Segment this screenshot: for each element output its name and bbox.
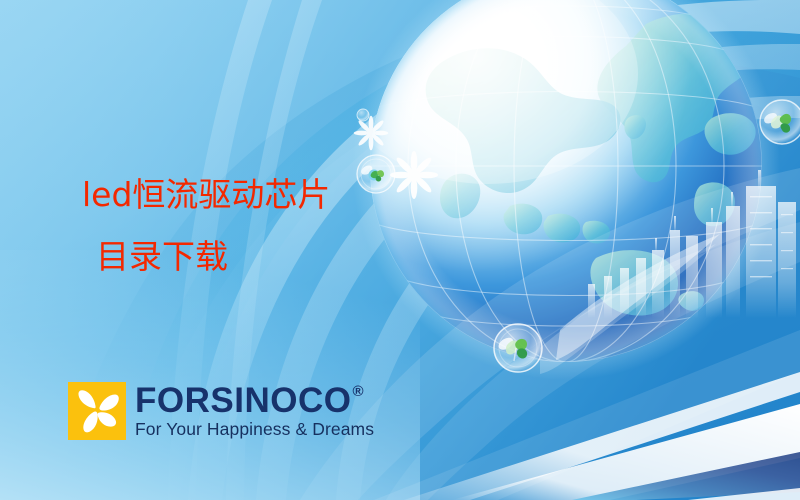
bubble-edge-right bbox=[760, 100, 800, 144]
headline-line-1: led恒流驱动芯片 bbox=[82, 164, 330, 226]
registered-trademark-icon: ® bbox=[352, 384, 364, 399]
marketing-banner: led恒流驱动芯片 目录下载 FORSINOCO ® bbox=[0, 0, 800, 500]
logo-wordmark-text: FORSINOCO bbox=[135, 383, 351, 418]
pinwheel-flower-icon bbox=[68, 382, 126, 440]
daisy-flower-large bbox=[390, 151, 438, 199]
headline-text: led恒流驱动芯片 目录下载 bbox=[82, 164, 330, 288]
brand-logo: FORSINOCO ® For Your Happiness & Dreams bbox=[68, 382, 374, 440]
bubble-tiny bbox=[357, 109, 369, 121]
logo-text-block: FORSINOCO ® For Your Happiness & Dreams bbox=[135, 383, 374, 439]
logo-wordmark: FORSINOCO ® bbox=[135, 383, 374, 418]
bubble-with-leaf bbox=[494, 324, 542, 372]
bubble-with-globe bbox=[357, 155, 395, 193]
logo-tagline: For Your Happiness & Dreams bbox=[135, 421, 374, 439]
daisy-flower-small bbox=[354, 116, 389, 151]
headline-line-2: 目录下载 bbox=[82, 226, 330, 288]
